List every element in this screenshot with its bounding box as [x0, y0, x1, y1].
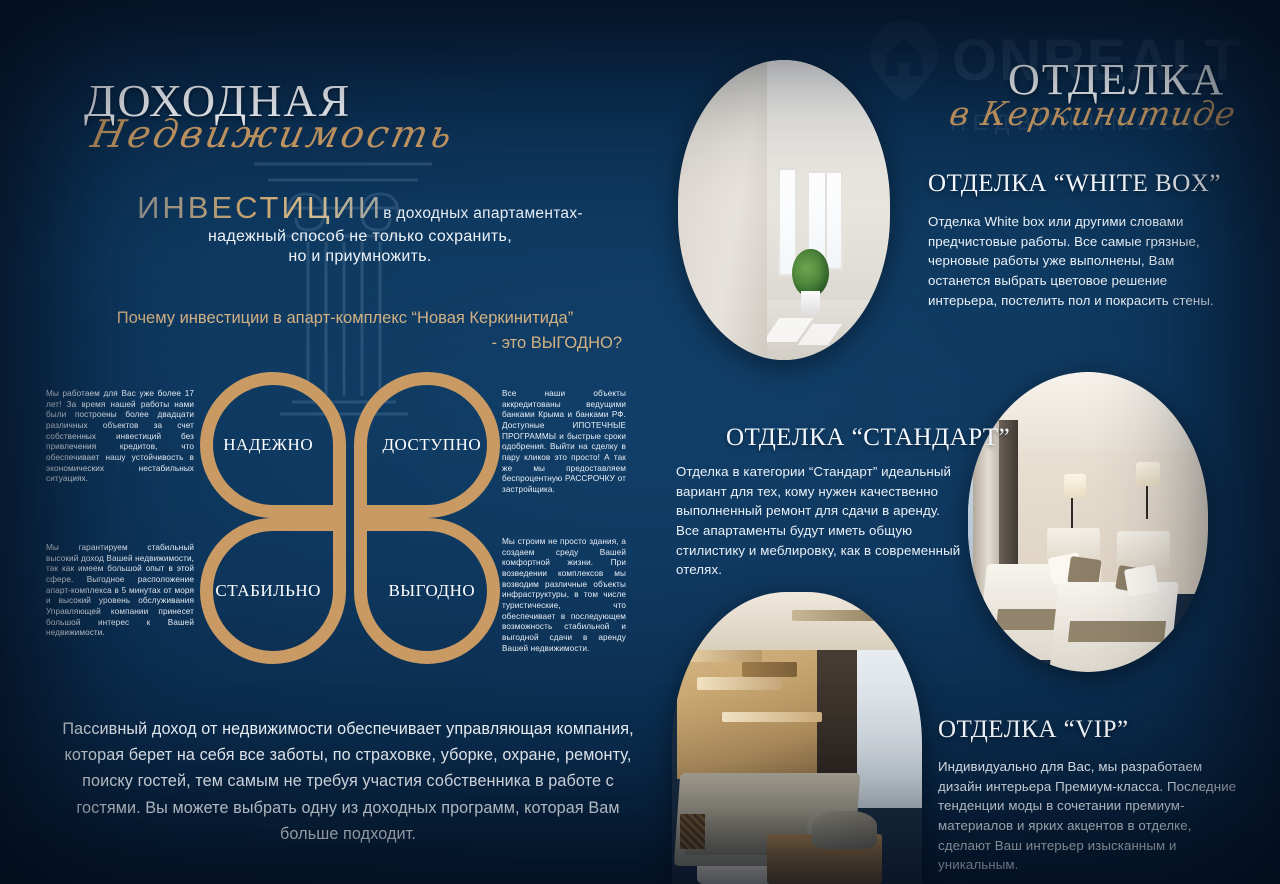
vip-photo-art — [672, 592, 922, 884]
brochure-page: ONREALT НЕДВИЖИМОСТЬ ДОХОДНАЯ Недвижимос… — [0, 0, 1280, 884]
petal-label-vygodno: ВЫГОДНО — [388, 581, 475, 601]
standart-photo — [968, 372, 1208, 672]
why-invest-line2: - это ВЫГОДНО? — [60, 331, 630, 356]
investments-tail: в доходных апартаментах- — [383, 205, 583, 226]
investments-keyword: ИНВЕСТИЦИИ — [137, 190, 383, 226]
section-title-vip: ОТДЕЛКА “VIP” — [938, 716, 1129, 744]
investments-line3: но и приумножить. — [110, 248, 610, 266]
side-text-bottom-left: Мы гарантируем стабильный высокий доход … — [46, 543, 194, 639]
petal-dostupno: ДОСТУПНО — [354, 372, 500, 518]
side-text-bottom-right: Мы строим не просто здания, а создаем ср… — [502, 537, 626, 654]
benefits-petal-diagram: НАДЕЖНО ДОСТУПНО СТАБИЛЬНО ВЫГОДНО — [200, 372, 500, 664]
section-body-standart: Отделка в категории “Стандарт” идеальный… — [676, 462, 966, 580]
petal-label-stabilno: СТАБИЛЬНО — [215, 581, 321, 601]
investments-block: ИНВЕСТИЦИИв доходных апартаментах- надеж… — [110, 190, 610, 266]
white-box-photo-art — [678, 60, 890, 360]
right-title-script: в Керкинитиде — [947, 94, 1240, 133]
left-title-script: Недвижимость — [87, 112, 459, 156]
passive-income-paragraph: Пассивный доход от недвижимости обеспечи… — [48, 716, 648, 847]
why-invest-line1: Почему инвестиции в апарт-комплекс “Нова… — [117, 309, 573, 327]
section-title-white-box: ОТДЕЛКА “WHITE BOX” — [928, 170, 1221, 198]
section-body-vip: Индивидуально для Вас, мы разработаем ди… — [938, 757, 1243, 875]
petal-nadezhno: НАДЕЖНО — [200, 372, 346, 518]
section-title-standart: ОТДЕЛКА “СТАНДАРТ” — [726, 424, 1010, 452]
side-text-top-right: Все наши объекты аккредитованы ведущими … — [502, 389, 626, 496]
standart-photo-art — [968, 372, 1208, 672]
side-text-top-left: Мы работаем для Вас уже более 17 лет! За… — [46, 389, 194, 485]
section-body-white-box: Отделка White box или другими словами пр… — [928, 212, 1228, 310]
petal-stabilno: СТАБИЛЬНО — [200, 518, 346, 664]
petal-label-dostupno: ДОСТУПНО — [382, 435, 481, 455]
white-box-photo — [678, 60, 890, 360]
petal-vygodno: ВЫГОДНО — [354, 518, 500, 664]
why-invest-question: Почему инвестиции в апарт-комплекс “Нова… — [60, 306, 630, 356]
petal-label-nadezhno: НАДЕЖНО — [223, 435, 313, 455]
investments-line2: надежный способ не только сохранить, — [110, 228, 610, 246]
vip-photo — [672, 592, 922, 884]
